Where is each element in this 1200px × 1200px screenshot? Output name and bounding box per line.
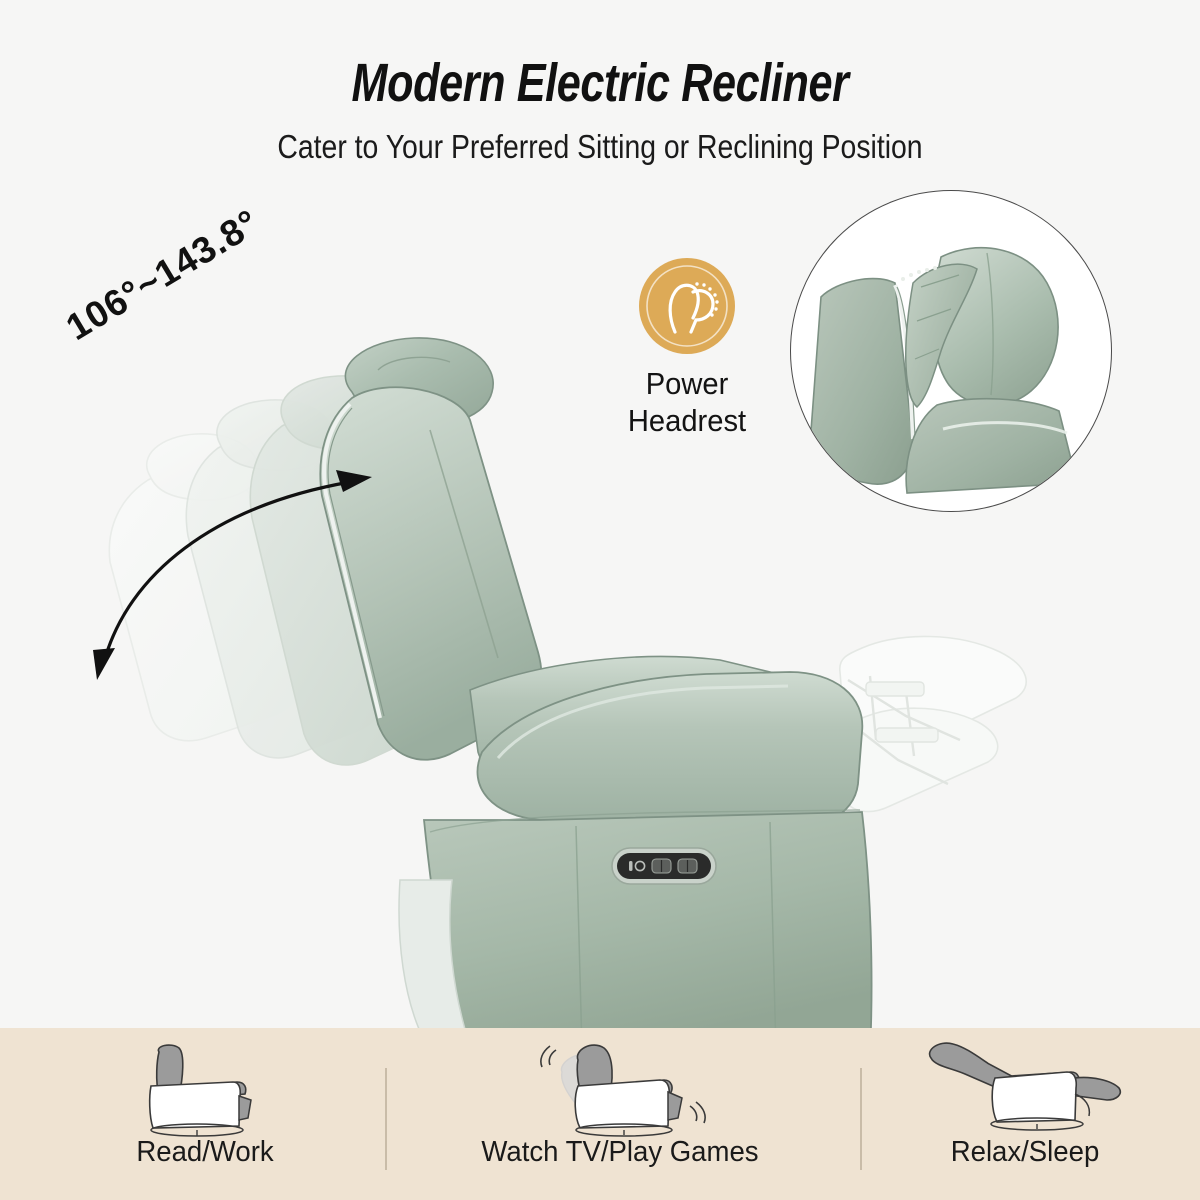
band-divider-2: [860, 1068, 862, 1170]
page-subtitle: Cater to Your Preferred Sitting or Recli…: [84, 114, 1116, 166]
page-title: Modern Electric Recliner: [120, 0, 1080, 114]
feature-label: Watch TV/Play Games: [430, 1136, 810, 1169]
control-panel[interactable]: [612, 848, 716, 884]
header: Modern Electric Recliner Cater to Your P…: [0, 0, 1200, 180]
recliner-reclined-icon: [420, 1028, 820, 1136]
recline-angle-label: 106°~143.8°: [59, 201, 266, 349]
feature-label: Relax/Sleep: [887, 1136, 1163, 1169]
recliner-upright-icon: [40, 1028, 370, 1136]
power-headrest-label: Power Headrest: [617, 366, 758, 439]
recliner-flat-icon: [880, 1028, 1170, 1136]
ghost-footrest-extension: [840, 636, 1026, 811]
feature-label: Read/Work: [48, 1136, 362, 1169]
feature-relax-sleep[interactable]: Relax/Sleep: [880, 1028, 1170, 1200]
product-stage: 106°~143.8° Power Head: [0, 180, 1200, 1028]
chair-side-body: [424, 812, 872, 1028]
headrest-closeup-inset: [790, 190, 1112, 512]
band-divider-1: [385, 1068, 387, 1170]
power-headrest-icon: [639, 258, 735, 354]
feature-read-work[interactable]: Read/Work: [40, 1028, 370, 1200]
usage-feature-band: Read/Work: [0, 1028, 1200, 1200]
angle-annotation: 106°~143.8°: [0, 180, 460, 560]
power-headrest-badge: Power Headrest: [612, 258, 762, 439]
feature-watch-tv[interactable]: Watch TV/Play Games: [420, 1028, 820, 1200]
